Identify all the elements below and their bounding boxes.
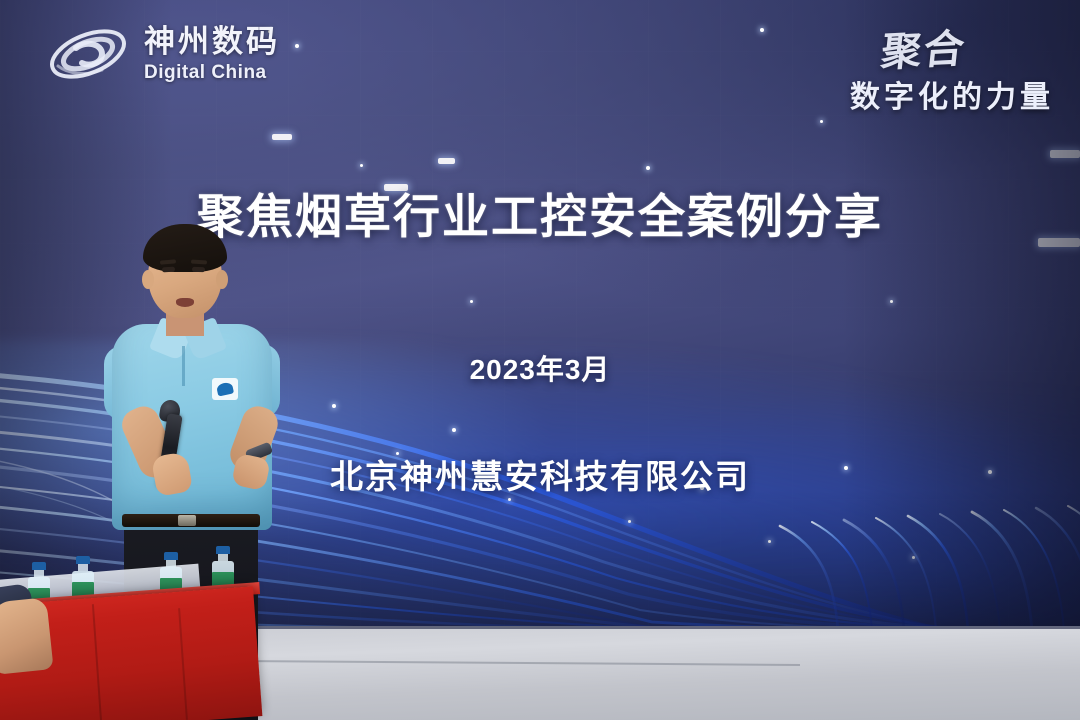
particle-dot (360, 164, 363, 167)
bottle-neck (218, 554, 228, 561)
bottle-neck (166, 560, 176, 567)
particle-dot (508, 498, 511, 501)
logo-name-en: Digital China (144, 63, 280, 82)
speaker-ear-right (216, 270, 228, 289)
particle-dot (470, 300, 473, 303)
digital-china-logo: 神州数码 Digital China (46, 22, 280, 86)
speaker-chest-logo-icon (212, 378, 238, 400)
speaker-mouth (176, 298, 194, 307)
event-tagline: 数字化的力量 (850, 72, 1054, 116)
logo-wordmark: 神州数码 Digital China (144, 26, 280, 82)
bottle-cap (76, 556, 90, 564)
bottle-neck (34, 570, 44, 577)
particle-dash (438, 158, 455, 164)
foreground-person-hand (0, 597, 54, 675)
speaker-eye-left (162, 267, 175, 273)
juhe-event-logo: 聚合 数字化的力量 (850, 18, 1054, 116)
particle-dot (890, 300, 893, 303)
logo-name-cn: 神州数码 (144, 26, 280, 57)
bottle-neck (78, 564, 88, 571)
spiral-swirl-logo-icon (46, 22, 130, 86)
particle-dot (768, 540, 771, 543)
particle-dot (332, 404, 336, 408)
particle-dot (628, 520, 631, 523)
particle-dot (452, 428, 456, 432)
bottle-cap (216, 546, 230, 554)
particle-dot (760, 28, 764, 32)
particle-dash (272, 134, 292, 140)
particle-dash (1050, 150, 1080, 158)
brush-wordmark: 聚合 (879, 16, 970, 78)
particle-dot (820, 120, 823, 123)
speaker-belt-buckle (178, 515, 196, 526)
particle-dot (646, 166, 650, 170)
bottle-cap (164, 552, 178, 560)
conference-stage-scene: 神州数码 Digital China 聚合 数字化的力量 聚焦烟草行业工控安全案… (0, 0, 1080, 720)
speaker-ear-left (142, 270, 154, 289)
speaker-hair (143, 224, 227, 272)
speaker-eye-right (192, 267, 205, 272)
particle-dot (295, 44, 299, 48)
particle-dot (912, 556, 915, 559)
bottle-cap (32, 562, 46, 570)
speaker-shirt-placket (182, 346, 185, 386)
